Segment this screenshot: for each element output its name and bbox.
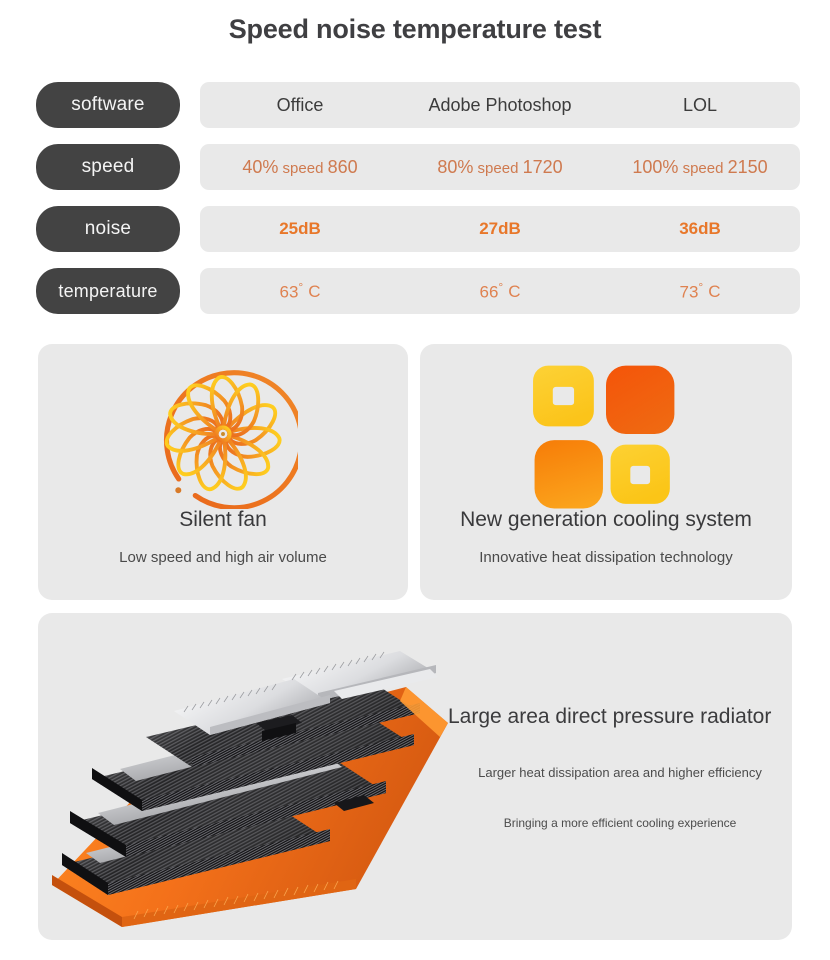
table-row: speed 40% speed 860 80% speed 1720 100% … [0, 140, 830, 202]
table-row: noise 25dB 27dB 36dB [0, 202, 830, 264]
degree-icon: ° [498, 280, 503, 294]
cell-software-3: LOL [600, 95, 800, 116]
radiator-line-2: Bringing a more efficient cooling experi… [448, 816, 792, 830]
speed-word: speed [478, 160, 519, 177]
card-subtitle-cooling-system: Innovative heat dissipation technology [479, 549, 733, 566]
row-label-temperature: temperature [36, 268, 180, 314]
row-label-speed: speed [36, 144, 180, 190]
row-label-software: software [36, 82, 180, 128]
row-values-temperature: 63°C 66°C 73°C [200, 268, 800, 314]
cell-noise-3: 36dB [600, 219, 800, 239]
radiator-title: Large area direct pressure radiator [448, 705, 792, 729]
table-row: temperature 63°C 66°C 73°C [0, 264, 830, 326]
row-label-noise: noise [36, 206, 180, 252]
speed-rpm: 2150 [728, 157, 768, 177]
temp-value: 63 [279, 282, 298, 301]
temp-unit: C [508, 282, 520, 301]
row-values-software: Office Adobe Photoshop LOL [200, 82, 800, 128]
row-values-noise: 25dB 27dB 36dB [200, 206, 800, 252]
table-row: software Office Adobe Photoshop LOL [0, 78, 830, 140]
speed-percent: 80% [437, 157, 473, 177]
cell-speed-2: 80% speed 1720 [400, 157, 600, 178]
radiator-panel: Large area direct pressure radiator Larg… [38, 613, 792, 940]
speed-word: speed [683, 160, 724, 177]
speed-rpm: 860 [328, 157, 358, 177]
cell-temp-3: 73°C [600, 280, 800, 303]
speed-percent: 100% [632, 157, 678, 177]
page-title: Speed noise temperature test [0, 14, 830, 45]
degree-icon: ° [698, 280, 703, 294]
speed-word: speed [283, 160, 324, 177]
temp-value: 73 [679, 282, 698, 301]
card-silent-fan: Silent fan Low speed and high air volume [38, 344, 408, 600]
speed-percent: 40% [242, 157, 278, 177]
row-values-speed: 40% speed 860 80% speed 1720 100% speed … [200, 144, 800, 190]
cell-software-1: Office [200, 95, 400, 116]
spec-table: software Office Adobe Photoshop LOL spee… [0, 78, 830, 326]
radiator-text-block: Large area direct pressure radiator Larg… [448, 705, 792, 830]
temp-unit: C [308, 282, 320, 301]
cell-noise-1: 25dB [200, 219, 400, 239]
temp-value: 66 [479, 282, 498, 301]
cell-software-2: Adobe Photoshop [400, 95, 600, 116]
degree-icon: ° [298, 280, 303, 294]
cooling-squares-icon [530, 358, 682, 510]
cell-speed-3: 100% speed 2150 [600, 157, 800, 178]
feature-cards: Silent fan Low speed and high air volume [0, 344, 830, 600]
cell-speed-1: 40% speed 860 [200, 157, 400, 178]
radiator-line-1: Larger heat dissipation area and higher … [448, 765, 792, 780]
card-subtitle-silent-fan: Low speed and high air volume [119, 549, 327, 566]
cell-temp-2: 66°C [400, 280, 600, 303]
card-cooling-system: New generation cooling system Innovative… [420, 344, 792, 600]
fan-icon [148, 358, 298, 510]
heatsink-image [38, 627, 484, 927]
card-title-silent-fan: Silent fan [179, 508, 267, 532]
card-title-cooling-system: New generation cooling system [460, 508, 752, 532]
cell-noise-2: 27dB [400, 219, 600, 239]
speed-rpm: 1720 [523, 157, 563, 177]
temp-unit: C [708, 282, 720, 301]
cell-temp-1: 63°C [200, 280, 400, 303]
